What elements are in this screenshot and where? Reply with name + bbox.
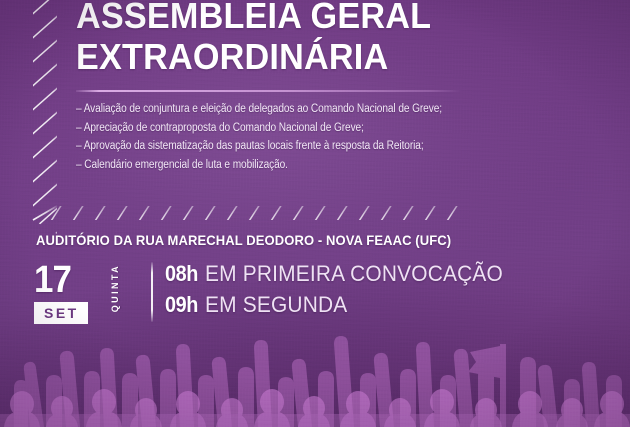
poster-canvas: ASSEMBLEIA GERAL EXTRAORDINÁRIA – Avalia… (0, 0, 630, 427)
time-label: EM SEGUNDA (205, 291, 347, 319)
agenda-item: – Calendário emergencial de luta e mobil… (76, 156, 419, 175)
date-weekday: QUINTA (110, 264, 120, 312)
time-hour: 09h (165, 291, 198, 319)
date-month-badge: SET (34, 302, 88, 324)
title-line-2: EXTRAORDINÁRIA (76, 36, 437, 77)
agenda-item: – Apreciação de contraproposta do Comand… (76, 119, 419, 138)
venue-label: AUDITÓRIO DA RUA MARECHAL DEODORO - NOVA… (36, 232, 451, 248)
time-row: 09hEM SEGUNDA (165, 291, 518, 322)
time-row: 08hEM PRIMEIRA CONVOCAÇÃO (165, 260, 518, 291)
date-time-separator (151, 262, 153, 322)
date-day: 17 (34, 262, 98, 298)
agenda-item: – Avaliação de conjuntura e eleição de d… (76, 100, 419, 119)
date-box: 17 SET (34, 262, 104, 324)
times-list: 08hEM PRIMEIRA CONVOCAÇÃO 09hEM SEGUNDA (165, 260, 518, 322)
agenda-item: – Aprovação da sistematização das pautas… (76, 137, 419, 156)
title-line-1: ASSEMBLEIA GERAL (76, 0, 437, 36)
time-label: EM PRIMEIRA CONVOCAÇÃO (205, 260, 503, 288)
agenda-list: – Avaliação de conjuntura e eleição de d… (76, 100, 466, 174)
poster-title: ASSEMBLEIA GERAL EXTRAORDINÁRIA (76, 0, 456, 77)
title-divider (76, 90, 461, 92)
time-hour: 08h (165, 260, 198, 288)
